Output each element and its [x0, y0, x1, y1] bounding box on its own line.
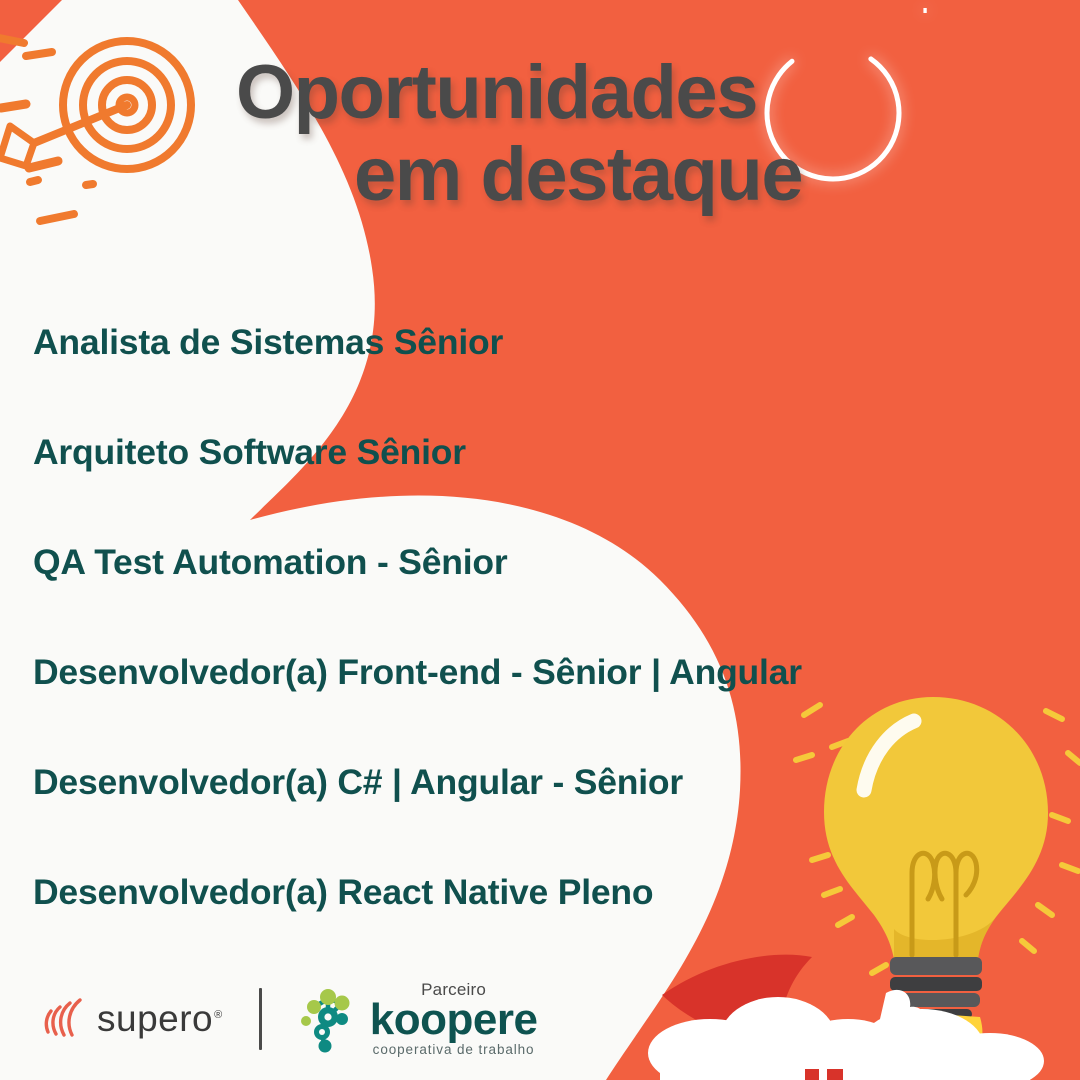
koopere-molecule-icon: [298, 983, 360, 1055]
koopere-logo[interactable]: Parceiro koopere cooperativa de trabalho: [298, 981, 538, 1057]
koopere-text-block: Parceiro koopere cooperativa de trabalho: [370, 981, 538, 1057]
footer-divider: [259, 988, 262, 1050]
list-item[interactable]: Desenvolvedor(a) Front-end - Sênior | An…: [33, 644, 1043, 754]
supero-signal-icon: [40, 997, 86, 1041]
list-item[interactable]: Arquiteto Software Sênior: [33, 424, 1043, 534]
list-item[interactable]: Desenvolvedor(a) C# | Angular - Sênior: [33, 754, 1043, 864]
supero-logo[interactable]: supero®: [40, 997, 223, 1041]
supero-wordmark: supero®: [97, 998, 223, 1040]
footer-logos: supero®: [40, 980, 537, 1058]
page-title: Oportunidades em destaque: [236, 56, 856, 213]
title-line-1: Oportunidades: [236, 56, 856, 130]
koopere-tagline: cooperativa de trabalho: [370, 1043, 538, 1057]
poster-canvas: Oportunidades em destaque Vêm ser um #Su…: [0, 0, 1080, 1080]
list-item[interactable]: Analista de Sistemas Sênior: [33, 314, 1043, 424]
list-item[interactable]: Desenvolvedor(a) React Native Pleno: [33, 864, 1043, 974]
title-line-2: em destaque: [236, 138, 856, 212]
registered-mark: ®: [214, 1009, 223, 1021]
badge-text: Vêm ser um #Supers: [728, 8, 938, 14]
target-dartboard-icon: [0, 8, 226, 238]
list-item[interactable]: QA Test Automation - Sênior: [33, 534, 1043, 644]
job-openings-list: Analista de Sistemas Sênior Arquiteto So…: [33, 314, 1043, 974]
koopere-wordmark: koopere: [370, 1000, 538, 1040]
supero-text: supero: [97, 998, 213, 1039]
